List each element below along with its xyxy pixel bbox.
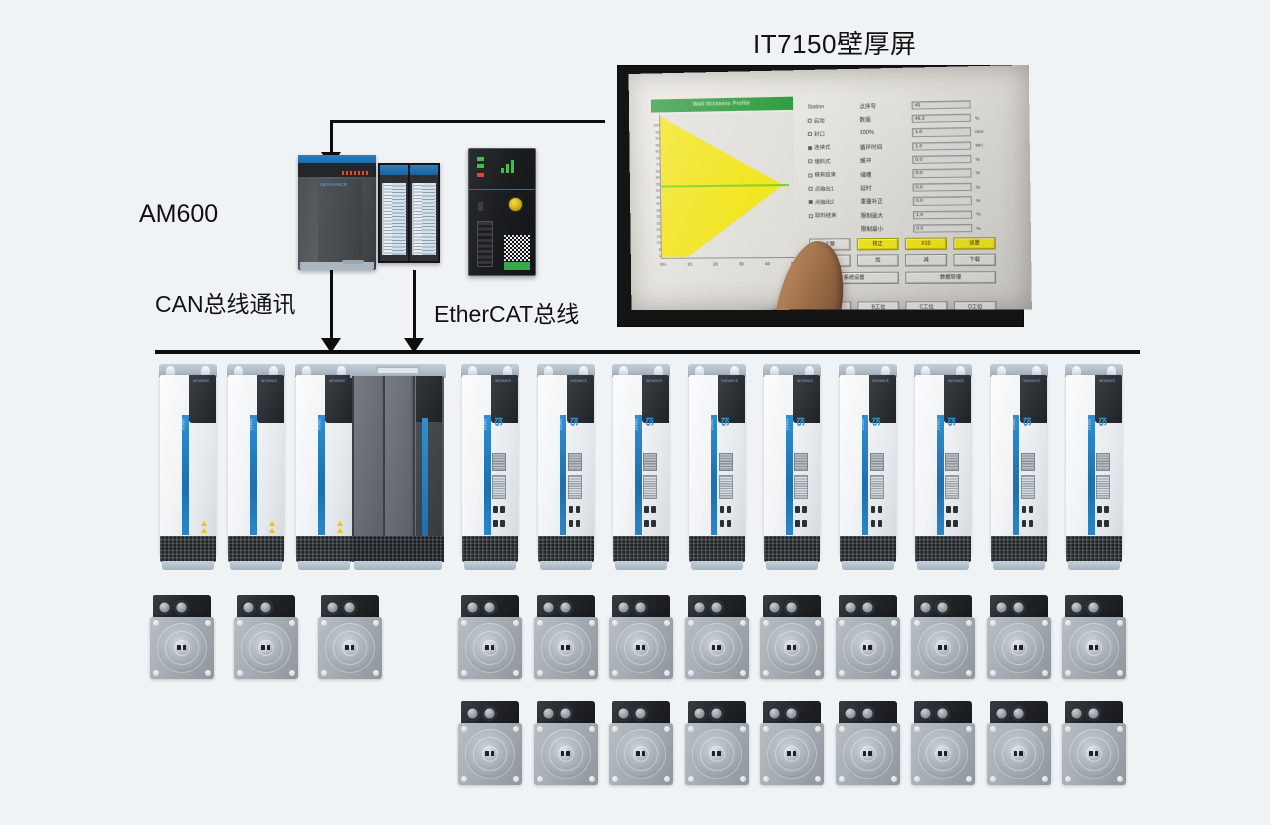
- chart-x-tick: 0%: [660, 262, 666, 267]
- param-value-field[interactable]: 0.0: [913, 224, 972, 233]
- drive-brand-label: INOVANCE: [797, 379, 813, 383]
- radio-label: 封口: [814, 131, 825, 138]
- chart-y-tick: 70: [656, 164, 660, 168]
- drive-vent-base: [840, 536, 896, 562]
- form-radio-option[interactable]: 点输出2: [809, 198, 861, 206]
- qr-code-icon: [504, 235, 530, 261]
- motor-connector-port: [843, 600, 858, 615]
- plc-label: AM600: [139, 200, 218, 229]
- motor-connector-port: [994, 706, 1009, 721]
- motor-front-flange: [534, 617, 598, 679]
- drive-vent-base: [991, 536, 1047, 562]
- rotary-knob[interactable]: [508, 197, 523, 212]
- radio-label: 取料结束: [815, 212, 837, 219]
- chart-plot-area: 1009590858075706560555045403530252015105…: [659, 112, 795, 259]
- drive-connector-row: [869, 505, 885, 514]
- chart-x-axis-ticks: 0%1020304050%: [660, 261, 800, 267]
- motor-connector-port: [843, 706, 858, 721]
- drive-body: INOVANCEIS620: [228, 375, 284, 555]
- drive-port-block: [719, 453, 733, 471]
- motor-front-flange: [911, 723, 975, 785]
- motor-shaft-hub: [342, 640, 358, 656]
- servo-motor: [458, 595, 524, 679]
- motor-front-flange: [318, 617, 382, 679]
- chart-y-tick: 85: [655, 144, 659, 148]
- motor-connector-port: [1069, 706, 1084, 721]
- signal-bars-icon: [501, 157, 521, 173]
- drive-vent-base: [296, 536, 352, 562]
- plc-brand-label: INOVANCE: [320, 182, 348, 187]
- drive-foot: [540, 561, 592, 570]
- motor-front-flange: [458, 617, 522, 679]
- param-value-field[interactable]: 0.0: [913, 196, 972, 205]
- plc-led-bar: [298, 163, 376, 177]
- servo-drive: INOVANCEIS620: [293, 364, 355, 576]
- chart-y-tick: 60: [656, 177, 660, 181]
- drive-brand-label: INOVANCE: [948, 379, 964, 383]
- drive-vent-base: [228, 536, 284, 562]
- chart-y-tick: 95: [655, 131, 659, 135]
- servo-motor: [685, 701, 751, 785]
- gateway-slot: [478, 202, 483, 211]
- drive-vent-grill: [1021, 475, 1035, 499]
- motor-shaft-hub: [482, 746, 498, 762]
- drive-body: INOVANCEIS620IS: [764, 375, 820, 555]
- motor-shaft-hub: [935, 746, 951, 762]
- multi-drive-axis-module: [416, 376, 442, 556]
- chart-y-tick: 90: [655, 138, 659, 142]
- servo-drive-is-series: INOVANCEIS620IS: [459, 364, 521, 576]
- drive-body: INOVANCEIS620IS: [538, 375, 594, 555]
- servo-motor: [318, 595, 384, 679]
- param-value-field[interactable]: 1.0: [912, 141, 971, 151]
- param-value-field[interactable]: 46.3: [912, 113, 971, 123]
- drive-connector-row: [491, 519, 507, 528]
- radio-label: 点输出1: [815, 185, 834, 192]
- hmi-screen-surface: Wall thickness Profile 10095908580757065…: [629, 65, 1032, 310]
- motor-connector-port: [342, 600, 357, 615]
- drive-connector-row: [869, 519, 885, 528]
- ethercat-gateway-module: [468, 148, 536, 276]
- param-value-field[interactable]: 1.0: [913, 210, 972, 219]
- param-label: 储槽: [860, 170, 912, 179]
- diagram-canvas: IT7150壁厚屏 Wall thickness Profile 1009590…: [0, 0, 1270, 825]
- servo-motor: [609, 595, 675, 679]
- form-radio-option[interactable]: 连续式: [808, 144, 860, 152]
- servo-motor: [760, 701, 826, 785]
- param-label: 重量补正: [860, 197, 912, 206]
- motor-connector-port: [241, 600, 256, 615]
- param-unit: %: [972, 198, 993, 203]
- motor-shaft-hub: [633, 640, 649, 656]
- drive-brand-label: INOVANCE: [1024, 379, 1040, 383]
- param-unit: %: [972, 212, 993, 217]
- radio-icon: [808, 146, 812, 150]
- drive-foot: [766, 561, 818, 570]
- chart-y-tick: 25: [656, 222, 660, 226]
- motor-shaft-hub: [1086, 640, 1102, 656]
- motor-connector-port: [633, 600, 648, 615]
- param-value-field[interactable]: 0.0: [913, 183, 972, 192]
- drive-brand-label: INOVANCE: [329, 379, 345, 383]
- drive-accent-stripe: IS620: [862, 415, 869, 535]
- multi-drive-handle: [376, 366, 420, 375]
- warning-triangle-icon: [201, 528, 207, 533]
- drive-vent-grill: [568, 475, 582, 499]
- motor-front-flange: [685, 723, 749, 785]
- hmi-button-7[interactable]: 减: [905, 254, 947, 266]
- drive-connector-row: [491, 505, 507, 514]
- form-radio-option[interactable]: 储料式: [808, 157, 860, 165]
- motor-front-flange: [458, 723, 522, 785]
- hmi-button-panel: 上移校正X10设置下移加减下载系统设置数据管理A工位B工位C工位D工位: [629, 65, 1029, 74]
- form-radio-option[interactable]: 启动: [808, 116, 860, 124]
- servo-motor: [234, 595, 300, 679]
- plc-rack-am600: INOVANCE: [298, 155, 423, 275]
- form-radio-option[interactable]: 封口: [808, 130, 860, 138]
- radio-icon: [809, 214, 813, 218]
- drive-connector-row: [718, 505, 734, 514]
- drive-vent-grill: [945, 475, 959, 499]
- radio-icon: [808, 160, 812, 164]
- drive-head-panel: INOVANCE: [869, 375, 896, 423]
- plc-top-strip: [298, 155, 376, 163]
- servo-motor: [836, 701, 902, 785]
- servo-motor: [150, 595, 216, 679]
- motor-shaft-hub: [174, 640, 190, 656]
- drive-accent-stripe: IS620: [711, 415, 718, 535]
- drive-vent-grill: [1096, 475, 1110, 499]
- io-module-rack: [378, 163, 440, 263]
- drive-brand-label: INOVANCE: [495, 379, 511, 383]
- motor-connector-port: [784, 600, 799, 615]
- motor-connector-port: [1086, 600, 1101, 615]
- wall-thickness-profile-chart: Wall thickness Profile 10095908580757065…: [645, 97, 801, 276]
- param-label: 限制最小: [861, 225, 913, 234]
- drive-brand-label: INOVANCE: [193, 379, 209, 383]
- radio-icon: [808, 173, 812, 177]
- drive-accent-stripe: IS620: [182, 415, 189, 535]
- param-value-field[interactable]: 1.0: [912, 127, 971, 137]
- radio-label: 点输出2: [815, 199, 834, 206]
- servo-drive: INOVANCEIS620: [225, 364, 287, 576]
- motor-shaft-hub: [482, 640, 498, 656]
- motor-connector-port: [541, 600, 556, 615]
- servo-motor: [685, 595, 751, 679]
- drive-connector-row: [1020, 519, 1036, 528]
- servo-drive-is-series: INOVANCEIS620IS: [988, 364, 1050, 576]
- warning-triangle-icon: [201, 521, 207, 526]
- motor-shaft-hub: [558, 640, 574, 656]
- motor-connector-port: [465, 706, 480, 721]
- drive-head-panel: INOVANCE: [567, 375, 594, 423]
- motor-shaft-hub: [860, 746, 876, 762]
- drive-series-mark: IS: [643, 417, 655, 425]
- drive-series-mark: IS: [719, 417, 731, 425]
- motor-shaft-hub: [784, 640, 800, 656]
- drive-connector-row: [642, 519, 658, 528]
- form-radio-option[interactable]: 模有结束: [808, 171, 860, 179]
- param-value-field[interactable]: 45: [911, 100, 970, 110]
- drive-head-panel: INOVANCE: [491, 375, 518, 423]
- hmi-button-4[interactable]: 设置: [953, 237, 996, 249]
- param-unit: sec: [971, 142, 992, 147]
- radio-icon: [809, 187, 813, 191]
- param-label: 数据: [859, 115, 911, 124]
- multi-drive-body: [352, 376, 444, 556]
- hmi-button-3[interactable]: X10: [905, 237, 947, 249]
- motor-shaft-hub: [709, 640, 725, 656]
- plc-cpu-module: INOVANCE: [298, 155, 376, 270]
- drive-port-block: [1096, 453, 1110, 471]
- drive-connector-row: [718, 519, 734, 528]
- param-unit: mm: [971, 129, 992, 135]
- bus-bar: [155, 350, 1140, 354]
- radio-label: 储料式: [814, 158, 830, 165]
- warning-triangle-icon: [269, 521, 275, 526]
- drive-vent-base: [160, 536, 216, 562]
- drive-head-panel: INOVANCE: [1020, 375, 1047, 423]
- drive-connector-row: [944, 505, 960, 514]
- wire-hmi-to-plc-horizontal: [330, 120, 605, 123]
- chart-y-tick: 5: [659, 249, 661, 253]
- chart-y-tick: 75: [656, 157, 660, 161]
- drive-vent-grill: [643, 475, 657, 499]
- drive-connector-row: [567, 519, 583, 528]
- drive-series-mark: IS: [870, 417, 882, 425]
- drive-body: INOVANCEIS620: [160, 375, 216, 555]
- motor-front-flange: [1062, 617, 1126, 679]
- drive-connector-row: [642, 505, 658, 514]
- drive-port-block: [870, 453, 884, 471]
- hmi-parameter-form: Station点序号45启动数据46.3%封口100%1.0mm连续式循环时间1…: [807, 96, 1031, 237]
- drive-port-block: [1021, 453, 1035, 471]
- servo-motor: [534, 701, 600, 785]
- servo-drive-is-series: INOVANCEIS620IS: [761, 364, 823, 576]
- drive-brand-label: INOVANCE: [261, 379, 277, 383]
- drive-vent-grill: [719, 475, 733, 499]
- chart-y-tick: 15: [657, 236, 661, 240]
- drive-head-panel: INOVANCE: [257, 375, 284, 423]
- drive-series-mark: IS: [492, 417, 504, 425]
- drive-accent-stripe: IS620: [786, 415, 793, 535]
- servo-motor: [609, 701, 675, 785]
- motor-connector-port: [784, 706, 799, 721]
- ethercat-label: EtherCAT总线: [434, 295, 579, 329]
- motor-front-flange: [836, 617, 900, 679]
- drive-connector-row: [793, 519, 809, 528]
- servo-drive: INOVANCEIS620: [157, 364, 219, 576]
- hmi-button-12[interactable]: B工位: [858, 301, 900, 310]
- motor-connector-port: [692, 600, 707, 615]
- motor-front-flange: [760, 723, 824, 785]
- motor-front-flange: [234, 617, 298, 679]
- servo-motor: [836, 595, 902, 679]
- motor-connector-port: [465, 600, 480, 615]
- drive-series-mark: IS: [568, 417, 580, 425]
- param-label: 循环时间: [860, 142, 912, 151]
- motor-shaft-hub: [258, 640, 274, 656]
- chart-y-tick: 45: [656, 196, 660, 200]
- motor-connector-port: [558, 600, 573, 615]
- page-title: IT7150壁厚屏: [753, 24, 916, 61]
- drive-accent-stripe: IS620: [1013, 415, 1020, 535]
- plc-handle: [342, 260, 364, 264]
- drive-head-panel: INOVANCE: [718, 375, 745, 423]
- param-label: 100%: [860, 130, 912, 137]
- drive-connector-row: [1095, 519, 1111, 528]
- chart-y-tick: 55: [656, 183, 660, 187]
- drive-head-panel: INOVANCE: [642, 375, 669, 423]
- drive-foot: [691, 561, 743, 570]
- drive-head-panel: INOVANCE: [944, 375, 971, 423]
- wire-can-bus: [330, 270, 333, 348]
- chart-banner: Wall thickness Profile: [651, 97, 793, 113]
- motor-shaft-hub: [1011, 640, 1027, 656]
- drive-connector-row: [567, 505, 583, 514]
- servo-drive-is-series: INOVANCEIS620IS: [1063, 364, 1125, 576]
- motor-connector-port: [935, 706, 950, 721]
- servo-motor: [1062, 595, 1128, 679]
- drive-foot: [298, 561, 350, 570]
- drive-accent-stripe: IS620: [635, 415, 642, 535]
- drive-foot: [162, 561, 214, 570]
- chart-x-tick: 10: [687, 262, 692, 267]
- motor-connector-port: [860, 600, 875, 615]
- servo-motor: [1062, 701, 1128, 785]
- motor-shaft-hub: [860, 640, 876, 656]
- servo-drive-is-series: INOVANCEIS620IS: [912, 364, 974, 576]
- motor-connector-port: [1086, 706, 1101, 721]
- motor-connector-port: [692, 706, 707, 721]
- motor-connector-port: [709, 706, 724, 721]
- io-module: [380, 165, 408, 261]
- servo-drive-is-series: INOVANCEIS620IS: [686, 364, 748, 576]
- drive-vent-base: [538, 536, 594, 562]
- drive-port-block: [492, 453, 506, 471]
- drive-body: INOVANCEIS620IS: [1066, 375, 1122, 555]
- motor-connector-port: [1069, 600, 1084, 615]
- param-label: 限制最大: [861, 211, 913, 220]
- hmi-button-14[interactable]: D工位: [954, 301, 997, 310]
- terminal-block: [477, 221, 493, 267]
- drive-vent-base: [613, 536, 669, 562]
- motor-front-flange: [760, 617, 824, 679]
- hmi-button-2[interactable]: 校正: [857, 238, 899, 250]
- io-module: [410, 165, 438, 261]
- chart-y-tick: 65: [656, 170, 660, 174]
- servo-motor: [760, 595, 826, 679]
- drive-vent-base: [915, 536, 971, 562]
- motor-front-flange: [609, 723, 673, 785]
- drive-body: INOVANCEIS620IS: [613, 375, 669, 555]
- can-bus-label: CAN总线通讯: [155, 285, 296, 319]
- drive-vent-base: [689, 536, 745, 562]
- radio-icon: [809, 200, 813, 204]
- motor-connector-port: [325, 600, 340, 615]
- servo-motor: [987, 595, 1053, 679]
- chart-y-tick: 100: [653, 124, 659, 128]
- chart-y-axis-ticks: 1009590858075706560555045403530252015105…: [647, 124, 661, 258]
- hmi-button-6[interactable]: 加: [857, 254, 899, 266]
- motor-connector-port: [174, 600, 189, 615]
- chart-y-tick: 50: [656, 190, 660, 194]
- warning-triangle-icon: [337, 521, 343, 526]
- multi-drive-base: [354, 561, 442, 570]
- motor-front-flange: [685, 617, 749, 679]
- hmi-button-13[interactable]: C工位: [906, 301, 948, 310]
- motor-connector-port: [935, 600, 950, 615]
- drive-accent-stripe: IS620: [1088, 415, 1095, 535]
- drive-body: INOVANCEIS620IS: [462, 375, 518, 555]
- drive-body: INOVANCEIS620IS: [991, 375, 1047, 555]
- drive-body: INOVANCEIS620IS: [915, 375, 971, 555]
- drive-foot: [464, 561, 516, 570]
- param-unit: %: [972, 184, 993, 189]
- radio-label: 模有结束: [815, 171, 837, 178]
- drive-connector-row: [793, 505, 809, 514]
- param-unit: %: [971, 156, 992, 161]
- form-radio-option[interactable]: 点输出1: [808, 185, 860, 193]
- motor-front-flange: [1062, 723, 1126, 785]
- drive-series-mark: IS: [794, 417, 806, 425]
- drive-connector-row: [944, 519, 960, 528]
- hmi-button-8[interactable]: 下载: [953, 254, 996, 266]
- motor-shaft-hub: [709, 746, 725, 762]
- motor-shaft-hub: [1011, 746, 1027, 762]
- form-station-header: Station: [807, 103, 859, 110]
- drive-series-mark: IS: [945, 417, 957, 425]
- radio-label: 连续式: [814, 144, 830, 151]
- param-label: 缓冲: [860, 156, 912, 165]
- form-radio-option[interactable]: 取料结束: [809, 212, 861, 220]
- servo-motor: [987, 701, 1053, 785]
- drive-foot: [917, 561, 969, 570]
- drive-port-block: [945, 453, 959, 471]
- motor-connector-port: [709, 600, 724, 615]
- param-value-field[interactable]: 0.0: [912, 169, 971, 178]
- drive-foot: [993, 561, 1045, 570]
- drive-brand-label: INOVANCE: [571, 379, 587, 383]
- param-value-field[interactable]: 0.0: [912, 155, 971, 164]
- motor-connector-port: [616, 600, 631, 615]
- drive-body: INOVANCEIS620IS: [840, 375, 896, 555]
- chart-y-tick: 40: [656, 203, 660, 207]
- drive-vent-base: [462, 536, 518, 562]
- chart-y-tick: 1: [659, 255, 661, 259]
- arrow-down-ethercat: [404, 338, 424, 353]
- motor-connector-port: [482, 706, 497, 721]
- drive-head-panel: INOVANCE: [793, 375, 820, 423]
- motor-shaft-hub: [633, 746, 649, 762]
- drive-accent-stripe: IS620: [484, 415, 491, 535]
- servo-motor: [534, 595, 600, 679]
- drive-vent-grill: [492, 475, 506, 499]
- hmi-button-10[interactable]: 数据管理: [905, 271, 996, 283]
- param-label: 点序号: [859, 101, 911, 110]
- drive-accent-stripe: IS620: [250, 415, 257, 535]
- motor-connector-port: [767, 706, 782, 721]
- gateway-divider: [469, 189, 535, 190]
- chart-y-tick: 10: [657, 242, 661, 246]
- hmi-touchscreen-photo: Wall thickness Profile 10095908580757065…: [618, 66, 1023, 326]
- chart-x-tick: 40: [765, 261, 770, 266]
- motor-connector-port: [258, 600, 273, 615]
- motor-connector-port: [558, 706, 573, 721]
- drive-foot: [842, 561, 894, 570]
- drive-foot: [615, 561, 667, 570]
- warning-triangle-icon: [269, 528, 275, 533]
